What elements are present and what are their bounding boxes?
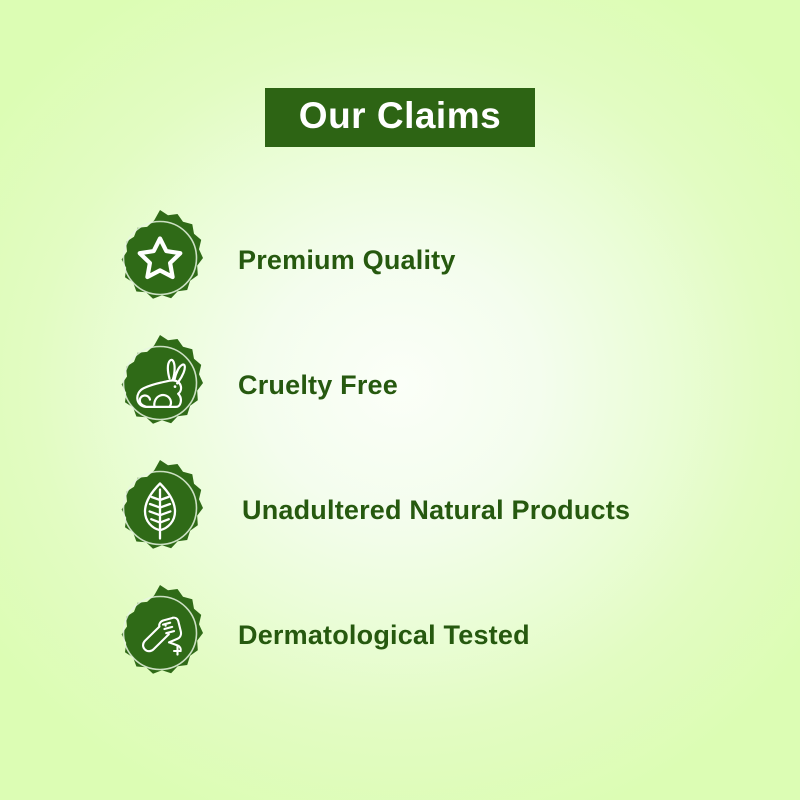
badge-premium-quality	[108, 209, 212, 313]
rabbit-icon	[108, 334, 212, 438]
claim-item-premium-quality: Premium Quality	[0, 198, 800, 323]
badge-cruelty-free	[108, 334, 212, 438]
badge-dermatological-tested	[108, 584, 212, 688]
star-icon	[108, 209, 212, 313]
claim-item-unadultered-natural-products: Unadultered Natural Products	[0, 448, 800, 573]
claim-item-cruelty-free: Cruelty Free	[0, 323, 800, 448]
page-title-bar: Our Claims	[265, 88, 535, 147]
claim-item-dermatological-tested: Dermatological Tested	[0, 573, 800, 698]
leaf-icon	[108, 459, 212, 563]
claim-label-premium-quality: Premium Quality	[238, 245, 456, 276]
page-title-container: Our Claims	[0, 88, 800, 147]
claim-label-dermatological-tested: Dermatological Tested	[238, 620, 530, 651]
badge-natural-products	[108, 459, 212, 563]
claims-list: Premium Quality	[0, 198, 800, 698]
claim-label-cruelty-free: Cruelty Free	[238, 370, 398, 401]
claim-label-unadultered-natural-products: Unadultered Natural Products	[242, 495, 630, 526]
page-title: Our Claims	[299, 95, 501, 136]
claims-poster: Our Claims Premium Quality	[0, 0, 800, 800]
hand-dropper-icon	[108, 584, 212, 688]
